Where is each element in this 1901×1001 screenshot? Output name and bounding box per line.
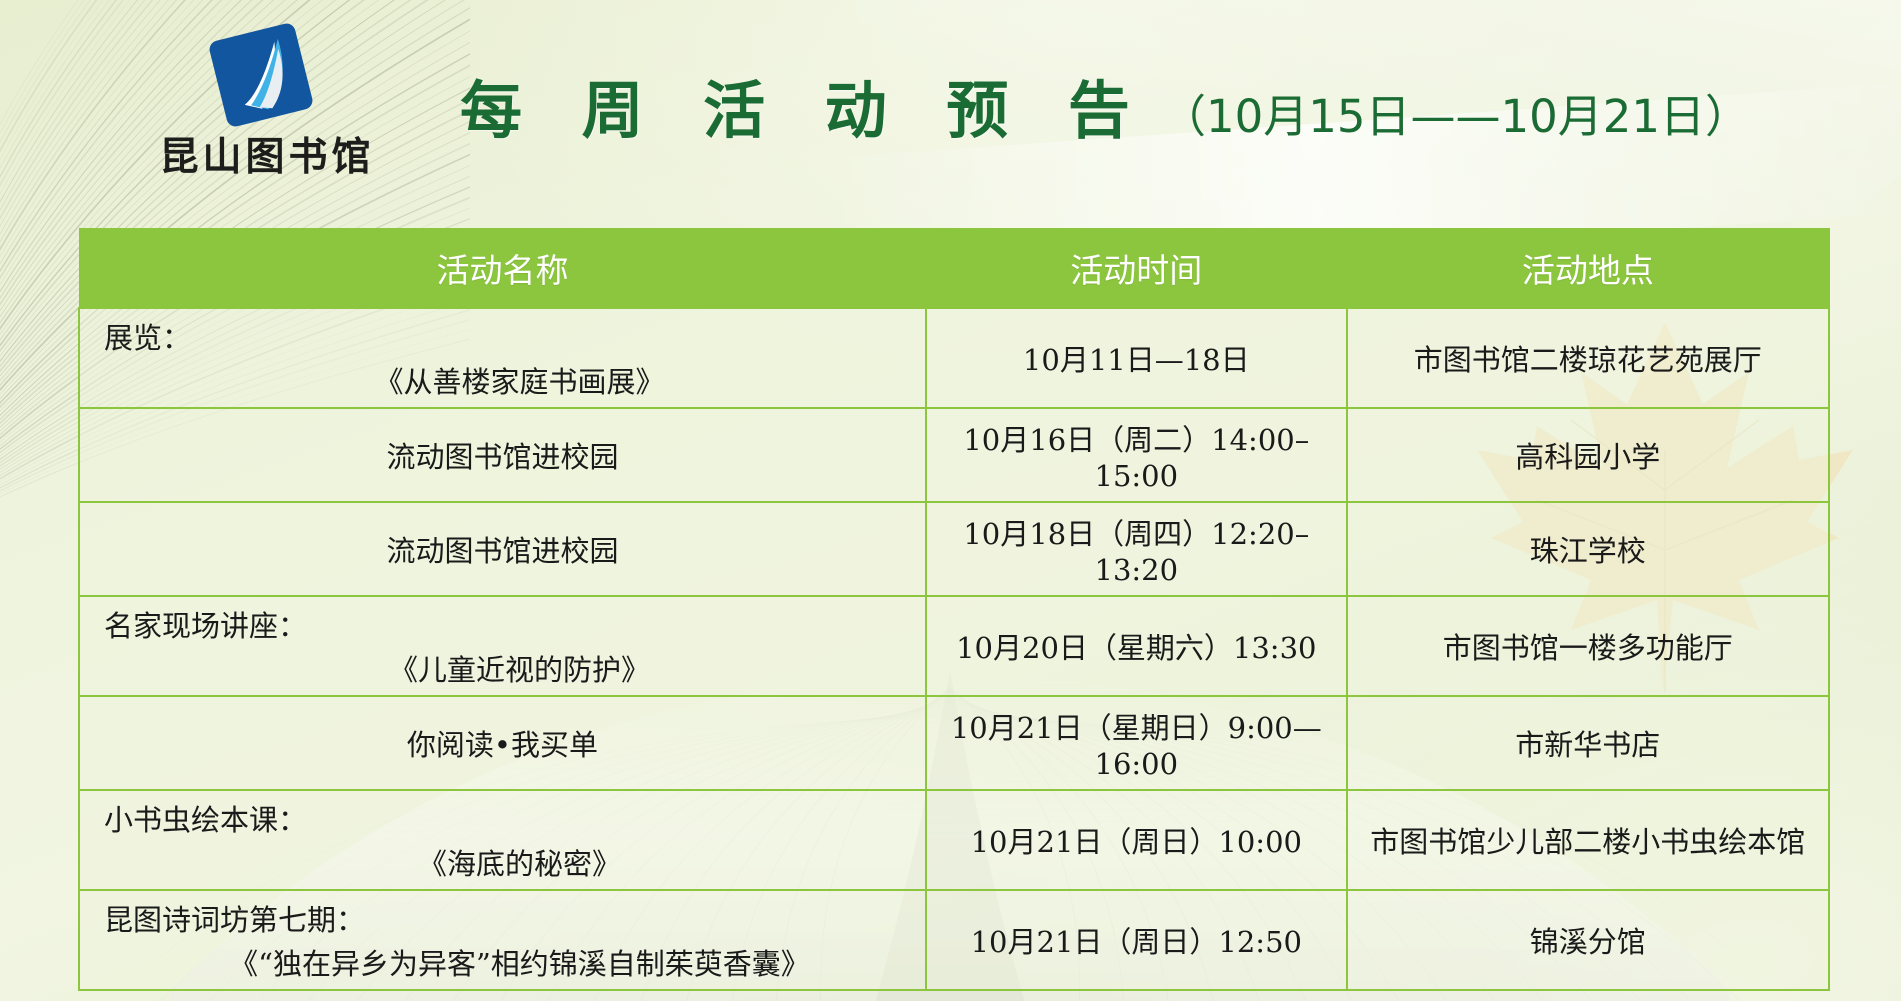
page-title: 每 周 活 动 预 告 [460, 60, 1149, 150]
column-header-time: 活动时间 [926, 229, 1347, 309]
date-range: （10月15日——10月21日） [1161, 80, 1750, 145]
cell-activity-place: 锦溪分馆 [1347, 890, 1829, 990]
title-block: 每 周 活 动 预 告 （10月15日——10月21日） [460, 60, 1750, 150]
cell-activity-name: 昆图诗词坊第七期：《“独在异乡为异客”相约锦溪自制茱萸香囊》 [79, 890, 926, 990]
cell-activity-time: 10月18日（周四）12:20–13:20 [926, 502, 1347, 596]
cell-activity-time: 10月21日（周日）10:00 [926, 790, 1347, 890]
cell-activity-name: 小书虫绘本课：《海底的秘密》 [79, 790, 926, 890]
activity-title: 《海底的秘密》 [90, 841, 915, 883]
cell-activity-place: 高科园小学 [1347, 408, 1829, 502]
cell-activity-place: 市图书馆一楼多功能厅 [1347, 596, 1829, 696]
table-header-row: 活动名称 活动时间 活动地点 [79, 229, 1829, 309]
activity-title: 《从善楼家庭书画展》 [90, 359, 915, 401]
activities-table: 活动名称 活动时间 活动地点 展览：《从善楼家庭书画展》10月11日—18日市图… [78, 228, 1830, 991]
table-row: 流动图书馆进校园10月16日（周二）14:00–15:00高科园小学 [79, 408, 1829, 502]
cell-activity-place: 市图书馆二楼琼花艺苑展厅 [1347, 308, 1829, 408]
activities-table-wrap: 活动名称 活动时间 活动地点 展览：《从善楼家庭书画展》10月11日—18日市图… [78, 228, 1830, 991]
table-row: 展览：《从善楼家庭书画展》10月11日—18日市图书馆二楼琼花艺苑展厅 [79, 308, 1829, 408]
library-logo: 昆山图书馆 [152, 22, 382, 172]
activity-category: 名家现场讲座： [90, 603, 915, 645]
table-body: 展览：《从善楼家庭书画展》10月11日—18日市图书馆二楼琼花艺苑展厅流动图书馆… [79, 308, 1829, 990]
activity-title: 你阅读•我买单 [407, 728, 598, 762]
activity-category: 昆图诗词坊第七期： [90, 897, 915, 939]
table-row: 小书虫绘本课：《海底的秘密》10月21日（周日）10:00市图书馆少儿部二楼小书… [79, 790, 1829, 890]
cell-activity-time: 10月16日（周二）14:00–15:00 [926, 408, 1347, 502]
activity-category: 小书虫绘本课： [90, 797, 915, 839]
cell-activity-name: 流动图书馆进校园 [79, 502, 926, 596]
activity-title: 流动图书馆进校园 [386, 534, 618, 568]
cell-activity-name: 展览：《从善楼家庭书画展》 [79, 308, 926, 408]
cell-activity-name: 名家现场讲座：《儿童近视的防护》 [79, 596, 926, 696]
activity-title: 《儿童近视的防护》 [90, 647, 915, 689]
table-row: 昆图诗词坊第七期：《“独在异乡为异客”相约锦溪自制茱萸香囊》10月21日（周日）… [79, 890, 1829, 990]
activity-title: 流动图书馆进校园 [386, 440, 618, 474]
cell-activity-time: 10月11日—18日 [926, 308, 1347, 408]
library-name: 昆山图书馆 [152, 126, 382, 182]
table-row: 流动图书馆进校园10月18日（周四）12:20–13:20珠江学校 [79, 502, 1829, 596]
cell-activity-place: 市新华书店 [1347, 696, 1829, 790]
column-header-name: 活动名称 [79, 229, 926, 309]
cell-activity-time: 10月20日（星期六）13:30 [926, 596, 1347, 696]
activity-title: 《“独在异乡为异客”相约锦溪自制茱萸香囊》 [90, 941, 915, 983]
table-row: 你阅读•我买单10月21日（星期日）9:00—16:00市新华书店 [79, 696, 1829, 790]
poster-header: 昆山图书馆 每 周 活 动 预 告 （10月15日——10月21日） [0, 0, 1901, 226]
cell-activity-name: 你阅读•我买单 [79, 696, 926, 790]
poster-canvas: 昆山图书馆 每 周 活 动 预 告 （10月15日——10月21日） 活动名称 … [0, 0, 1901, 1001]
table-row: 名家现场讲座：《儿童近视的防护》10月20日（星期六）13:30市图书馆一楼多功… [79, 596, 1829, 696]
column-header-place: 活动地点 [1347, 229, 1829, 309]
cell-activity-time: 10月21日（星期日）9:00—16:00 [926, 696, 1347, 790]
library-diamond-book-logo-icon [208, 22, 314, 128]
activity-category: 展览： [90, 315, 915, 357]
cell-activity-name: 流动图书馆进校园 [79, 408, 926, 502]
cell-activity-place: 珠江学校 [1347, 502, 1829, 596]
cell-activity-time: 10月21日（周日）12:50 [926, 890, 1347, 990]
cell-activity-place: 市图书馆少儿部二楼小书虫绘本馆 [1347, 790, 1829, 890]
